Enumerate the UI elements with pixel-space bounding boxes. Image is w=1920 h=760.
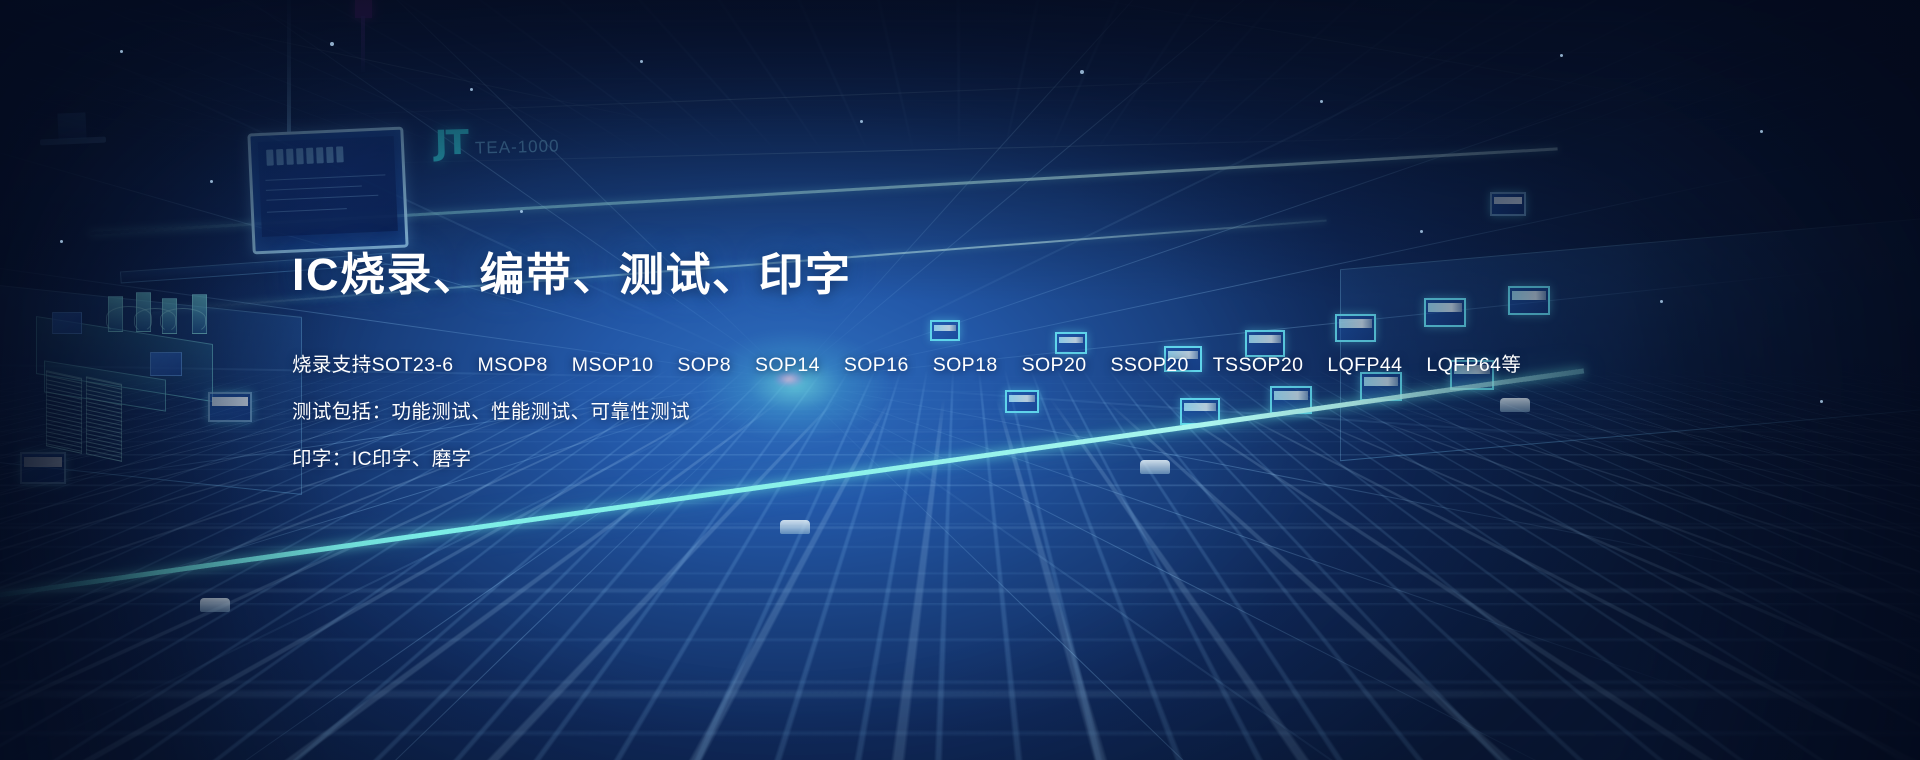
particle-dot [1820,400,1823,403]
package-label: SOP20 [1022,354,1087,376]
particle-dot [470,88,473,91]
burn-support-line: 烧录支持SOT23-6MSOP8MSOP10SOP8SOP14SOP16SOP1… [292,348,1692,377]
page-title: IC烧录、编带、测试、印字 [292,248,1692,302]
burn-support-prefix: 烧录支持SOT23-6 [292,354,454,376]
ic-service-banner: JT TEA-1000 [0,0,1920,760]
particle-dot [120,50,123,53]
particle-dot [210,180,213,183]
package-label: TSSOP20 [1213,354,1304,376]
package-label: SOP16 [844,354,909,376]
particle-dot [1080,70,1084,74]
package-label: MSOP8 [478,354,548,376]
particle-dot [520,210,523,213]
banner-text-block: IC烧录、编带、测试、印字 烧录支持SOT23-6MSOP8MSOP10SOP8… [292,248,1692,471]
particle-dot [1760,130,1763,133]
marking-scope-line: 印字：IC印字、磨字 [292,442,1692,471]
particle-dot [640,60,643,63]
package-label: SSOP20 [1110,354,1188,376]
particle-dot [860,120,863,123]
particle-dot [1320,100,1323,103]
package-label: LQFP64等 [1426,354,1521,376]
package-label: LQFP44 [1327,354,1402,376]
particle-dot [1420,230,1423,233]
package-label: MSOP10 [572,354,654,376]
particle-dot [1560,54,1563,57]
package-label: SOP14 [755,354,820,376]
package-label: SOP8 [677,354,731,376]
particle-dot [330,42,334,46]
particle-dot [60,240,63,243]
package-label: SOP18 [933,354,998,376]
test-scope-line: 测试包括：功能测试、性能测试、可靠性测试 [292,395,1692,424]
